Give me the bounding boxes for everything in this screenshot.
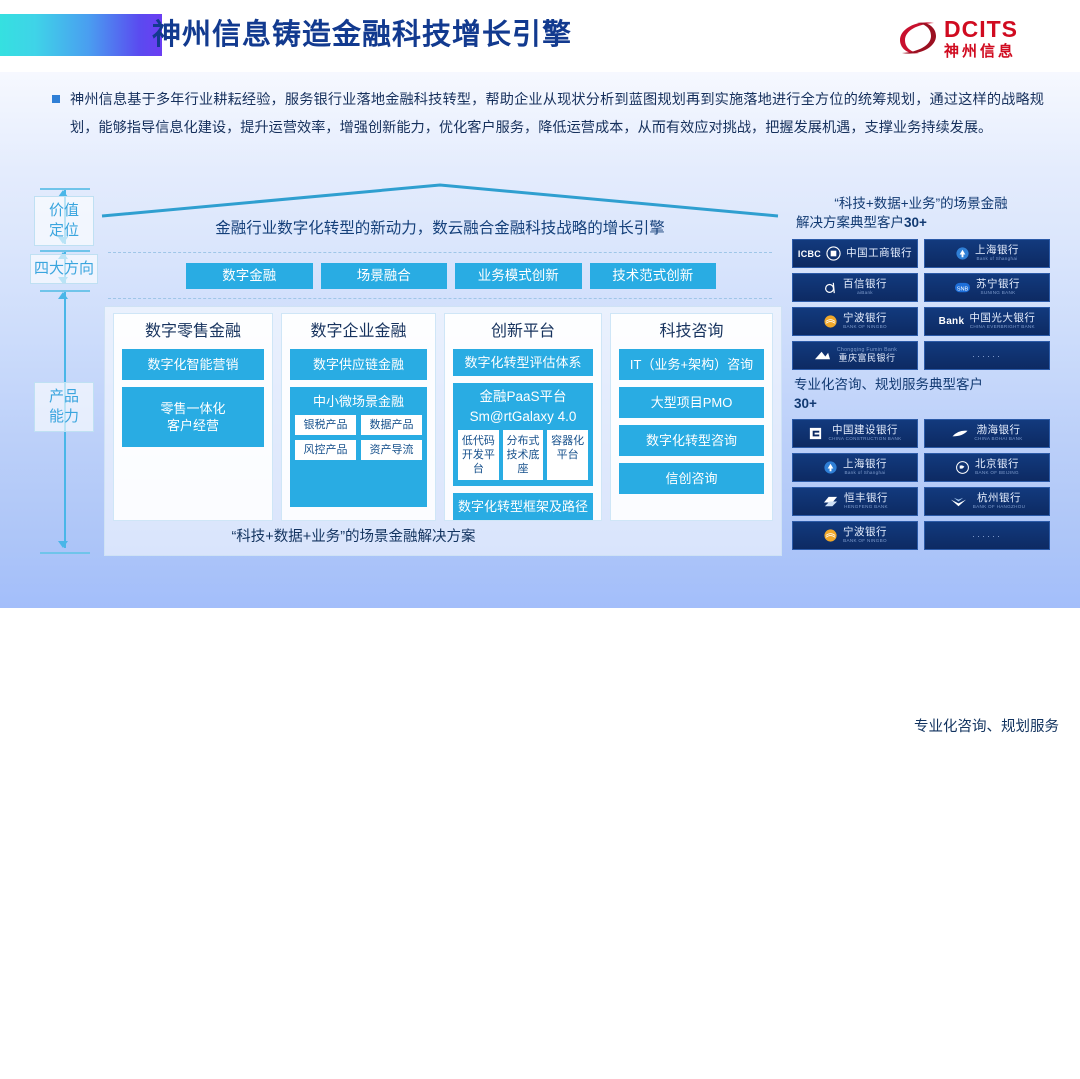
ccb-logo-icon [808,426,823,441]
roof-caption: 金融行业数字化转型的新动力，数云融合金融科技战略的增长引擎 [100,216,780,238]
grid-column-left: 中国建设银行 CHINA CONSTRUCTION BANK 上海银行 Bank… [792,419,918,550]
customers-title-top-line2: 解决方案典型客户 [796,215,904,230]
customer-logo-bohai-bank: 渤海银行 CHINA BOHAI BANK [924,419,1050,448]
customer-name-en: SUNING BANK [981,290,1016,296]
grid-column-right: 上海银行 Bank of Shanghai SNB 苏宁银行 SUNING BA… [924,239,1050,370]
mini-row: 风控产品 资产导流 [295,440,422,460]
axis-label-four-directions: 四大方向 [30,254,98,284]
grid-column-right: 渤海银行 CHINA BOHAI BANK 北京银行 BANK OF BEIJI… [924,419,1050,550]
column-title: 数字零售金融 [122,322,264,342]
customer-logo-more: ······ [924,341,1050,370]
customer-logo-more: ······ [924,521,1050,550]
block-line1: 零售一体化 [124,400,262,417]
customer-name-block: Chongqing Fumin Bank 重庆富民银行 [837,347,897,364]
customer-logo-hengfeng-bank: 恒丰银行 HENGFENG BANK [792,487,918,516]
logo-text-cn: 神州信息 [944,40,1016,61]
axis-label-line2: 能力 [35,407,93,427]
direction-tags: 数字金融 场景融合 业务模式创新 技术范式创新 [186,263,716,289]
product-group-financial-paas[interactable]: 金融PaaS平台 Sm@rtGalaxy 4.0 低代码开发平台 分布式技术底座… [453,383,593,486]
customer-name: 百信银行 [843,279,887,290]
product-block-transformation-assessment[interactable]: 数字化转型评估体系 [453,349,593,376]
group-title-line1: 金融PaaS平台 [458,389,588,405]
axis-label-product-capability: 产品 能力 [34,382,94,432]
customer-name-block: 上海银行 Bank of Shanghai [843,459,887,476]
ellipsis-icon: ······ [972,531,1002,541]
product-block-it-consulting[interactable]: IT（业务+架构）咨询 [619,349,764,380]
product-block-large-project-pmo[interactable]: 大型项目PMO [619,387,764,418]
mini-tag-asset-routing[interactable]: 资产导流 [361,440,422,460]
customer-name-en: aiBank [857,290,873,296]
everbright-abbr-label: Bank [939,316,965,327]
hengfeng-bank-logo-icon [822,494,839,509]
intro-text: 神州信息基于多年行业耕耘经验，服务银行业落地金融科技转型，帮助企业从现状分析到蓝… [44,86,1044,142]
divider-dashed [108,298,772,299]
group-title: 中小微场景金融 [295,393,422,410]
icbc-abbr-label: ICBC [798,249,821,259]
ningbo-bank-logo-icon [823,528,838,543]
shanghai-bank-logo-icon [823,460,838,475]
column-title: 数字企业金融 [290,322,427,342]
customer-name-block: 上海银行 Bank of Shanghai [975,245,1019,262]
axis-label-line1: 价值 [35,201,93,221]
ningbo-bank-logo-icon [823,314,838,329]
shanghai-bank-logo-icon [955,246,970,261]
product-group-sme-scenario-finance[interactable]: 中小微场景金融 银税产品 数据产品 风控产品 资产导流 [290,387,427,507]
customer-name: 渤海银行 [976,425,1020,436]
customer-logo-everbright-bank: Bank 中国光大银行 CHINA EVERBRIGHT BANK [924,307,1050,336]
arrow-up-icon [58,292,68,299]
product-column-innovation-platform: 创新平台 数字化转型评估体系 金融PaaS平台 Sm@rtGalaxy 4.0 … [444,313,602,521]
customer-logo-hangzhou-bank: 杭州银行 BANK OF HANGZHOU [924,487,1050,516]
customer-name: 中国建设银行 [832,425,898,436]
header-accent-bar [0,14,162,56]
direction-tag-tech-paradigm-innovation[interactable]: 技术范式创新 [590,263,717,289]
intro-paragraph: 神州信息基于多年行业耕耘经验，服务银行业落地金融科技转型，帮助企业从现状分析到蓝… [44,86,1044,142]
customers-count-mid: 30+ [794,396,817,411]
customers-panel: “科技+数据+业务”的场景金融 解决方案典型客户30+ ICBC 中国工商银行 … [792,190,1050,554]
value-axis: 价值 定位 四大方向 产品 能力 [34,186,98,558]
square-bullet-icon [52,95,60,103]
customer-logo-grid-bottom: 中国建设银行 CHINA CONSTRUCTION BANK 上海银行 Bank… [792,419,1050,550]
mini-tag-data-product[interactable]: 数据产品 [361,415,422,435]
customer-logo-grid-top: ICBC 中国工商银行 百信银行 aiBank 宁波银行 BANK OF NIN [792,239,1050,370]
mini-row: 低代码开发平台 分布式技术底座 容器化平台 [458,430,588,480]
dcits-logo: DCITS 神州信息 [896,16,1044,60]
fumin-bank-logo-icon [813,348,832,363]
direction-tag-digital-finance[interactable]: 数字金融 [186,263,313,289]
customer-name-block: 中国光大银行 CHINA EVERBRIGHT BANK [969,313,1035,330]
slide-canvas: 神州信息铸造金融科技增长引擎 DCITS 神州信息 神州信息基于多年行业耕耘经验… [0,0,1080,608]
suning-bank-logo-icon: SNB [954,280,971,295]
roof-banner: 金融行业数字化转型的新动力，数云融合金融科技战略的增长引擎 [100,183,780,245]
customer-logo-icbc: ICBC 中国工商银行 [792,239,918,268]
mini-tag-risk-control-product[interactable]: 风控产品 [295,440,356,460]
mini-row: 银税产品 数据产品 [295,415,422,435]
product-block-smart-marketing[interactable]: 数字化智能营销 [122,349,264,380]
grid-column-left: ICBC 中国工商银行 百信银行 aiBank 宁波银行 BANK OF NIN [792,239,918,370]
axis-tick [40,552,90,554]
customer-name-block: 北京银行 BANK OF BEIJING [975,459,1019,476]
customer-name: 中国工商银行 [846,248,912,259]
caption-consulting-planning-service: 专业化咨询、规划服务 [905,715,1068,1079]
product-capability-panel: 数字零售金融 数字化智能营销 零售一体化 客户经营 数字企业金融 数字供应链金融… [104,306,782,556]
customer-name-en: CHINA CONSTRUCTION BANK [828,436,901,442]
product-column-retail-finance: 数字零售金融 数字化智能营销 零售一体化 客户经营 [113,313,273,521]
product-block-supply-chain-finance[interactable]: 数字供应链金融 [290,349,427,380]
customer-logo-fumin-bank: Chongqing Fumin Bank 重庆富民银行 [792,341,918,370]
beijing-bank-logo-icon [955,460,970,475]
customer-name: 杭州银行 [977,493,1021,504]
product-column-enterprise-finance: 数字企业金融 数字供应链金融 中小微场景金融 银税产品 数据产品 风控产品 资产… [281,313,436,521]
customer-name-en: BANK OF NINGBO [843,324,887,330]
axis-label-line1: 产品 [35,387,93,407]
dcits-swoosh-icon [896,18,940,58]
product-column-tech-consulting: 科技咨询 IT（业务+架构）咨询 大型项目PMO 数字化转型咨询 信创咨询 [610,313,773,521]
customer-logo-beijing-bank: 北京银行 BANK OF BEIJING [924,453,1050,482]
customer-name-en: Bank of Shanghai [976,256,1017,262]
svg-text:SNB: SNB [957,286,969,292]
customer-logo-shanghai-bank: 上海银行 Bank of Shanghai [924,239,1050,268]
divider-dashed [108,252,772,253]
customer-name-block: 渤海银行 CHINA BOHAI BANK [974,425,1022,442]
customer-logo-shanghai-bank: 上海银行 Bank of Shanghai [792,453,918,482]
customers-count-top: 30+ [904,215,927,230]
customer-name: 北京银行 [975,459,1019,470]
customer-name-block: 苏宁银行 SUNING BANK [976,279,1020,296]
customer-name-block: 中国建设银行 CHINA CONSTRUCTION BANK [828,425,901,442]
mini-tag-lowcode-platform[interactable]: 低代码开发平台 [458,430,499,480]
page-title: 神州信息铸造金融科技增长引擎 [152,12,572,58]
direction-tag-business-model-innovation[interactable]: 业务模式创新 [455,263,582,289]
mini-tag-container-platform[interactable]: 容器化平台 [547,430,588,480]
customers-title-mid-line1: 专业化咨询、规划服务典型客户 [794,375,1048,394]
product-columns: 数字零售金融 数字化智能营销 零售一体化 客户经营 数字企业金融 数字供应链金融… [113,313,773,521]
group-title-line2: Sm@rtGalaxy 4.0 [458,409,588,425]
panel-captions: “科技+数据+业务”的场景金融解决方案 专业化咨询、规划服务 [113,525,773,549]
customer-name-en: HENGFENG BANK [844,504,888,510]
customer-name: 恒丰银行 [844,493,888,504]
customer-name-en: CHINA EVERBRIGHT BANK [970,324,1035,330]
customers-title-top: “科技+数据+业务”的场景金融 解决方案典型客户30+ [792,190,1050,239]
axis-label-value-positioning: 价值 定位 [34,196,94,246]
customer-name-en: BANK OF HANGZHOU [973,504,1026,510]
mini-tag-bank-tax-product[interactable]: 银税产品 [295,415,356,435]
customer-name: 中国光大银行 [969,313,1035,324]
direction-tag-scenario-fusion[interactable]: 场景融合 [321,263,448,289]
customer-name-block: 恒丰银行 HENGFENG BANK [844,493,888,510]
product-block-retail-integration[interactable]: 零售一体化 客户经营 [122,387,264,447]
customer-name-en: BANK OF NINGBO [843,538,887,544]
customer-name-en: Bank of Shanghai [844,470,885,476]
mini-tag-distributed-tech-base[interactable]: 分布式技术底座 [503,430,544,480]
icbc-logo-icon [826,246,841,261]
customer-name: 苏宁银行 [976,279,1020,290]
customer-name: 重庆富民银行 [838,353,895,364]
customer-name-block: 宁波银行 BANK OF NINGBO [843,527,887,544]
customer-logo-ccb: 中国建设银行 CHINA CONSTRUCTION BANK [792,419,918,448]
hangzhou-bank-logo-icon [949,494,968,509]
caption-scenario-finance-solution: “科技+数据+业务”的场景金融解决方案 [113,525,594,549]
product-block-xinchuang-consulting[interactable]: 信创咨询 [619,463,764,494]
customer-name-en: CHINA BOHAI BANK [974,436,1022,442]
column-title: 创新平台 [453,322,593,342]
slide-header: 神州信息铸造金融科技增长引擎 DCITS 神州信息 [0,0,1080,72]
customer-name: 上海银行 [843,459,887,470]
block-line2: 客户经营 [124,417,262,434]
customers-title-top-line1: “科技+数据+业务”的场景金融 [794,194,1048,213]
axis-label-line1: 四大方向 [31,259,97,279]
product-block-transformation-framework[interactable]: 数字化转型框架及路径 [453,493,593,520]
customer-name: 宁波银行 [843,313,887,324]
customer-name-en: BANK OF BEIJING [975,470,1019,476]
column-title: 科技咨询 [619,322,764,342]
axis-label-line2: 定位 [35,221,93,241]
customer-name: 上海银行 [975,245,1019,256]
customer-logo-ningbo-bank: 宁波银行 BANK OF NINGBO [792,307,918,336]
logo-text-en: DCITS [944,16,1018,43]
customer-logo-ningbo-bank: 宁波银行 BANK OF NINGBO [792,521,918,550]
customer-logo-aibank: 百信银行 aiBank [792,273,918,302]
ellipsis-icon: ······ [972,351,1002,361]
bohai-bank-logo-icon [951,426,969,441]
customer-name: 宁波银行 [843,527,887,538]
product-block-digital-transformation-consulting[interactable]: 数字化转型咨询 [619,425,764,456]
customers-title-mid: 专业化咨询、规划服务典型客户 30+ [792,370,1050,419]
arrow-down-icon [58,541,68,548]
customer-name-block: 百信银行 aiBank [843,279,887,296]
customer-logo-suning-bank: SNB 苏宁银行 SUNING BANK [924,273,1050,302]
aibank-logo-icon [823,280,838,295]
customer-name-block: 宁波银行 BANK OF NINGBO [843,313,887,330]
customer-name-block: 杭州银行 BANK OF HANGZHOU [973,493,1026,510]
